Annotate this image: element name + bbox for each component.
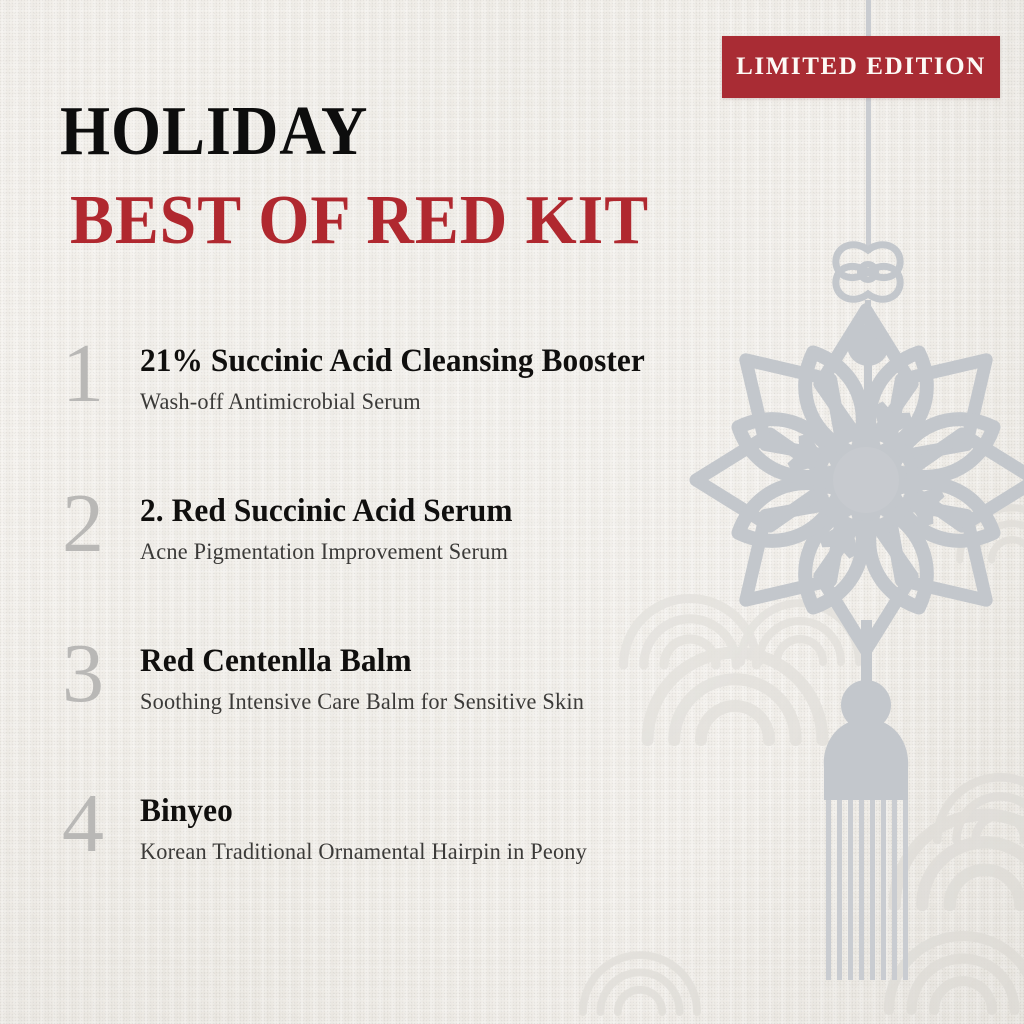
badge-label: LIMITED EDITION bbox=[736, 53, 986, 81]
list-item-subtitle: Korean Traditional Ornamental Hairpin in… bbox=[140, 836, 831, 868]
poster-canvas: LIMITED EDITION HOLIDAY BEST OF RED KIT … bbox=[0, 0, 1024, 1024]
headline-holiday: HOLIDAY bbox=[60, 95, 636, 169]
list-item-number: 3 bbox=[62, 628, 126, 720]
list-item-number: 1 bbox=[62, 328, 126, 420]
list-item-title: 21% Succinic Acid Cleansing Booster bbox=[140, 330, 816, 382]
headline-best-of-red-kit: BEST OF RED KIT bbox=[70, 181, 649, 261]
list-item-number: 4 bbox=[62, 778, 126, 870]
list-item-title: Red Centenlla Balm bbox=[140, 630, 816, 682]
product-list: 1 21% Succinic Acid Cleansing Booster Wa… bbox=[62, 330, 852, 930]
list-item: 2 2. Red Succinic Acid Serum Acne Pigmen… bbox=[62, 480, 852, 630]
list-item-subtitle: Acne Pigmentation Improvement Serum bbox=[140, 536, 831, 568]
list-item-title: Binyeo bbox=[140, 780, 816, 832]
limited-edition-badge: LIMITED EDITION bbox=[722, 36, 1000, 98]
list-item-subtitle: Wash-off Antimicrobial Serum bbox=[140, 386, 831, 418]
page-title: HOLIDAY BEST OF RED KIT bbox=[60, 95, 686, 261]
list-item-title: 2. Red Succinic Acid Serum bbox=[140, 480, 816, 532]
list-item: 3 Red Centenlla Balm Soothing Intensive … bbox=[62, 630, 852, 780]
list-item: 1 21% Succinic Acid Cleansing Booster Wa… bbox=[62, 330, 852, 480]
list-item-number: 2 bbox=[62, 478, 126, 570]
list-item: 4 Binyeo Korean Traditional Ornamental H… bbox=[62, 780, 852, 930]
list-item-subtitle: Soothing Intensive Care Balm for Sensiti… bbox=[140, 686, 831, 718]
